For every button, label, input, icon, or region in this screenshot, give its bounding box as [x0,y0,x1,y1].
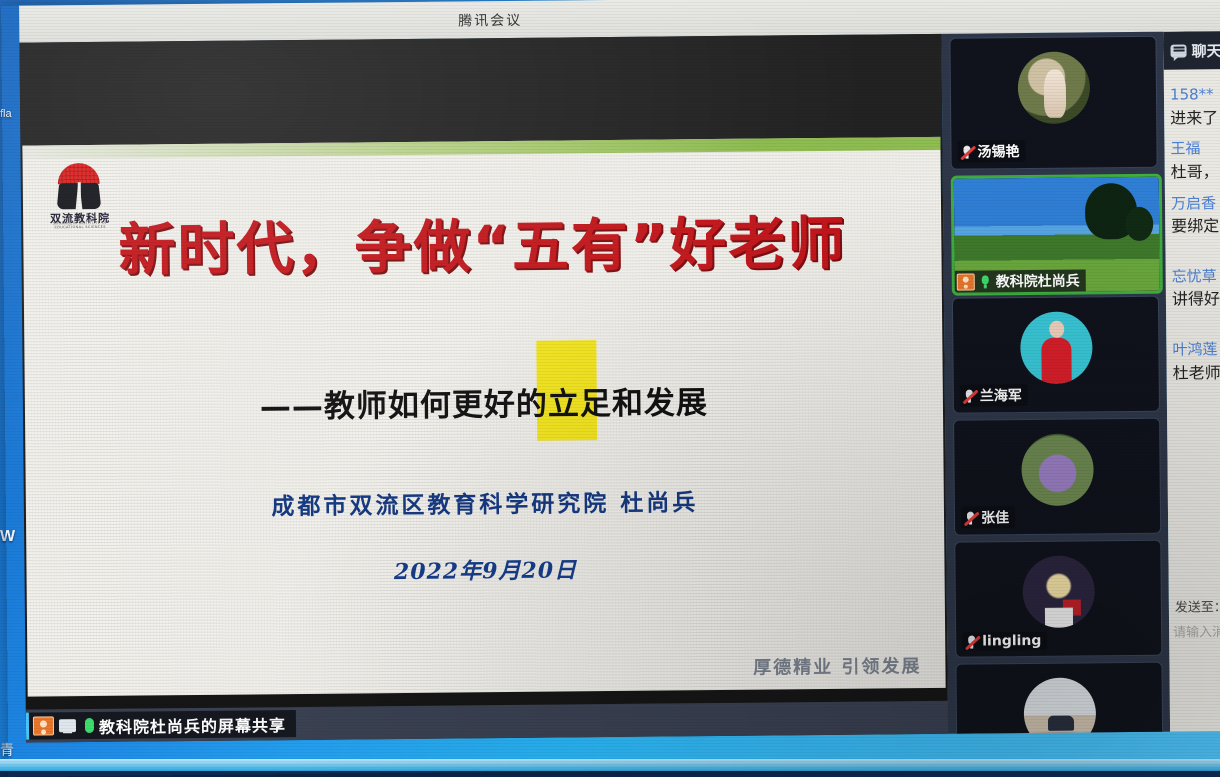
chat-message: 叶鸿莲 杜老师， [1172,338,1220,386]
participant-name: 教科院杜尚兵 [996,271,1080,292]
mic-muted-icon [964,634,979,649]
chat-message-text: 要绑定 [1171,214,1220,239]
mic-muted-icon [962,388,977,403]
participant-nameplate: 兰海军 [960,384,1028,407]
participant-tile[interactable]: 汤锡艳 [949,36,1157,170]
slide-subtitle: ——教师如何更好的立足和发展 [25,375,943,429]
participant-nameplate: 张佳 [961,506,1015,529]
participant-name: 汤锡艳 [977,141,1019,161]
mic-muted-icon [963,510,978,525]
chat-message: 158** 进来了 [1170,83,1220,131]
chat-message: 王福 杜哥， [1170,137,1220,185]
participant-tile[interactable]: 陈中川 [955,662,1163,734]
avatar [1022,555,1095,628]
screen-share-chip[interactable]: 教科院杜尚兵的屏幕共享 [26,710,296,740]
participant-name: 张佳 [981,507,1009,527]
screen-share-icon [33,716,54,735]
participant-nameplate: 教科院杜尚兵 [955,269,1086,292]
chat-message-author: 叶鸿莲 [1172,338,1220,361]
participant-tile[interactable]: 兰海军 [952,296,1160,414]
chat-panel-title: 聊天 [1191,40,1220,61]
chat-send-to-label[interactable]: 发送至： [1175,596,1220,615]
shared-screen-stage[interactable]: 双流教科院 SHUANGLIU INSTITUTE OF EDUCATIONAL… [19,34,948,743]
chat-message-author: 王福 [1170,137,1220,160]
chat-message: 万启香 要绑定 [1171,192,1220,240]
mic-on-icon [978,274,993,289]
slide-date: 2022年9月20日 [26,549,944,590]
chat-message-text: 进来了 [1170,106,1220,131]
monitor-icon [59,719,76,732]
chat-message-author: 万启香 [1171,192,1220,215]
mic-on-icon [85,718,94,733]
participant-nameplate: lingling [962,632,1047,651]
letterbox-top [19,34,942,146]
chat-bubble-icon [1170,44,1186,57]
participant-rail[interactable]: 汤锡艳 教科院杜尚兵 兰海军 张佳 [941,32,1170,734]
participant-name: lingling [982,633,1041,650]
participant-nameplate: 汤锡艳 [957,140,1025,163]
slide-author: 成都市双流区教育科学研究院 杜尚兵 [26,481,944,524]
chat-input[interactable]: 请输入消息 [1173,621,1220,643]
logo-arch-shape [58,163,100,184]
chat-message-text: 杜老师， [1173,361,1220,386]
tencent-meeting-window: 腾讯会议 双流教科院 SHUANGLIU INSTITUTE OF EDUCAT… [1,0,1220,777]
slide-footer-motto: 厚德精业 引领发展 [753,652,922,680]
presentation-slide: 双流教科院 SHUANGLIU INSTITUTE OF EDUCATIONAL… [22,137,945,697]
chat-message-author: 忘忧草 [1172,265,1220,288]
participant-name: 兰海军 [980,385,1022,405]
avatar [1023,677,1096,733]
chat-message: 忘忧草 讲得好 [1172,265,1220,313]
chat-message-text: 讲得好 [1172,288,1220,313]
chat-message-list[interactable]: 158** 进来了 王福 杜哥， 万启香 要绑定 忘忧草 讲得好 叶鸿莲 杜老师… [1164,69,1220,386]
chat-message-text: 杜哥， [1171,160,1220,185]
screen-share-icon [957,273,975,290]
window-title: 腾讯会议 [458,9,522,30]
avatar [1021,433,1094,506]
chat-panel-header: 聊天 [1163,31,1220,70]
mic-muted-icon [959,144,974,159]
windows-taskbar[interactable] [0,759,1220,771]
screen-share-label: 教科院杜尚兵的屏幕共享 [99,712,286,738]
participant-tile-active-speaker[interactable]: 教科院杜尚兵 [951,174,1163,296]
chat-message-author: 158** [1170,83,1220,106]
avatar [1020,311,1093,384]
slide-title: 新时代，争做“五有”好老师 [23,197,942,288]
participant-tile[interactable]: lingling [954,540,1162,658]
chat-panel[interactable]: 聊天 158** 进来了 王福 杜哥， 万启香 要绑定 忘忧草 讲得好 叶鸿莲 … [1163,31,1220,732]
avatar [1017,51,1090,124]
participant-tile[interactable]: 张佳 [953,418,1161,536]
